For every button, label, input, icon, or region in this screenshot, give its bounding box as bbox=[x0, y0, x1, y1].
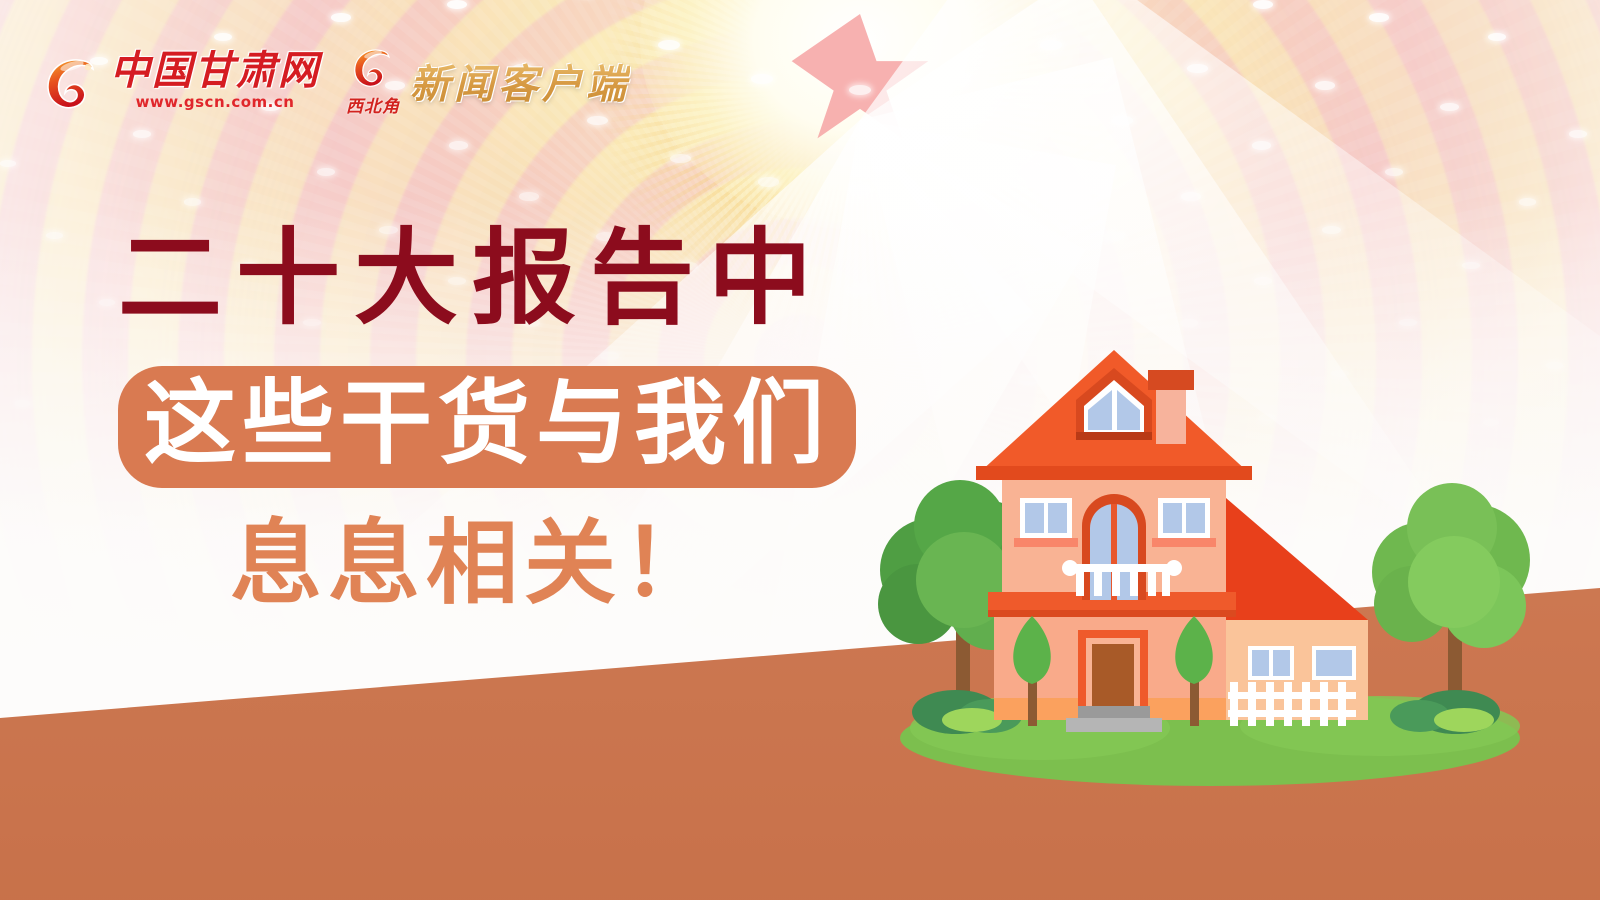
upper-window-right bbox=[1152, 498, 1216, 547]
house-annex bbox=[1226, 620, 1368, 720]
headline-line-3: 息息相关！ bbox=[230, 518, 908, 610]
annex-roof bbox=[1226, 498, 1368, 620]
gscn-swirl-logo-icon bbox=[44, 52, 100, 110]
brand-logo-row: 中国甘肃网 www.gscn.com.cn 西北角 新闻客户端 bbox=[44, 44, 630, 117]
upper-window-left bbox=[1014, 498, 1078, 547]
gscn-name: 中国甘肃网 bbox=[110, 51, 320, 91]
poster-canvas: 中国甘肃网 www.gscn.com.cn 西北角 新闻客户端 二十大报告中 这… bbox=[0, 0, 1600, 900]
headline-line-1: 二十大报告中 bbox=[118, 226, 908, 330]
roof-eave bbox=[976, 466, 1252, 480]
headline-pill: 这些干货与我们 bbox=[118, 366, 856, 488]
gscn-text-block: 中国甘肃网 www.gscn.com.cn bbox=[110, 51, 320, 110]
xibeijiao-mark-block: 西北角 bbox=[346, 44, 400, 117]
xibeijiao-app-logo[interactable]: 西北角 新闻客户端 bbox=[346, 44, 630, 117]
xibeijiao-swirl-logo-icon bbox=[351, 44, 395, 96]
headline-block: 二十大报告中 这些干货与我们 息息相关！ bbox=[118, 226, 908, 610]
headline-line-2: 这些干货与我们 bbox=[144, 378, 830, 470]
entrance-steps bbox=[1066, 706, 1162, 732]
house-illustration bbox=[860, 320, 1560, 790]
front-door bbox=[1078, 630, 1148, 716]
app-name-text: 新闻客户端 bbox=[410, 52, 630, 110]
gscn-url: www.gscn.com.cn bbox=[136, 95, 295, 110]
gscn-logo[interactable]: 中国甘肃网 www.gscn.com.cn bbox=[44, 51, 320, 110]
